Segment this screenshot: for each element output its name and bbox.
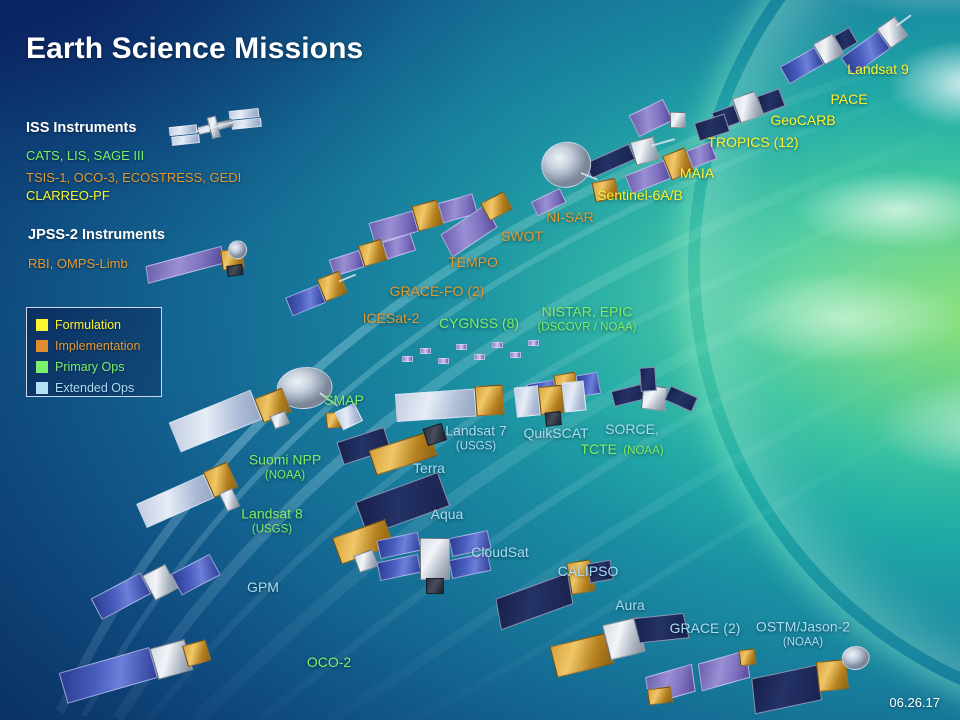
mission-label-ni-sar: NI-SAR <box>546 209 593 227</box>
mission-label-calipso: CALIPSO <box>558 563 619 581</box>
mission-name: ICESat-2 <box>363 310 420 326</box>
legend-label-extended-ops: Extended Ops <box>55 381 134 395</box>
mission-name: TCTE <box>580 441 617 457</box>
legend-panel: Formulation Implementation Primary Ops E… <box>26 307 162 397</box>
satellite-ostm-jason-2 <box>748 637 887 720</box>
iss-line-1: CATS, LIS, SAGE III <box>26 148 144 163</box>
mission-label-sentinel-6a-b: Sentinel-6A/B <box>597 187 683 205</box>
legend-label-primary-ops: Primary Ops <box>55 360 124 374</box>
mission-name: GRACE-FO (2) <box>390 283 485 299</box>
mission-name: Landsat 8 <box>241 506 303 522</box>
mission-label-suomi-npp: Suomi NPP(NOAA) <box>249 452 321 483</box>
mission-label-ostm-jason-2: OSTM/Jason-2(NOAA) <box>756 619 850 650</box>
mission-name: PACE <box>830 91 867 107</box>
mission-name: SWOT <box>501 228 543 244</box>
mission-label-tempo: TEMPO <box>448 254 498 272</box>
mission-label-geocarb: GeoCARB <box>770 112 835 130</box>
mission-name: Landsat 9 <box>847 61 909 77</box>
mission-name: GPM <box>247 579 279 595</box>
mission-label-grace-2: GRACE (2) <box>670 620 741 638</box>
mission-label-quikscat: QuikSCAT <box>523 425 588 443</box>
mission-name: CYGNSS (8) <box>439 315 519 331</box>
iss-line-2: TSIS-1, OCO-3, ECOSTRESS, GEDI <box>26 170 241 185</box>
mission-label-cygnss-8: CYGNSS (8) <box>439 315 519 333</box>
mission-label-tcte: TCTE (NOAA) <box>580 441 663 459</box>
mission-agency: (DSCOVR / NOAA) <box>537 322 636 335</box>
legend-item-extended-ops: Extended Ops <box>36 378 161 398</box>
mission-name: SORCE, <box>605 421 659 437</box>
iss-line-3: CLARREO-PF <box>26 188 110 203</box>
mission-name: SMAP <box>324 392 364 408</box>
mission-name: NISTAR, EPIC <box>542 304 633 320</box>
satellite-cloudsat <box>378 528 490 600</box>
mission-name: MAIA <box>680 165 714 181</box>
legend-swatch-extended-ops <box>36 382 48 394</box>
mission-label-nistar-epic: NISTAR, EPIC(DSCOVR / NOAA) <box>537 304 636 335</box>
group-heading-iss: ISS Instruments <box>26 120 136 136</box>
mission-name: CloudSat <box>471 544 529 560</box>
mission-label-landsat-8: Landsat 8(USGS) <box>241 506 303 537</box>
mission-label-gpm: GPM <box>247 579 279 597</box>
mission-name: NI-SAR <box>546 209 593 225</box>
mission-label-cloudsat: CloudSat <box>471 544 529 562</box>
mission-agency-inline: (NOAA) <box>617 445 664 457</box>
mission-name: Terra <box>413 460 445 476</box>
jpss2-line-1: RBI, OMPS-Limb <box>28 256 128 271</box>
mission-agency: (NOAA) <box>756 637 850 650</box>
mission-label-grace-fo-2: GRACE-FO (2) <box>390 283 485 301</box>
legend-label-formulation: Formulation <box>55 318 121 332</box>
mission-name: GRACE (2) <box>670 620 741 636</box>
mission-label-pace: PACE <box>830 91 867 109</box>
mission-label-sorce: SORCE, <box>605 421 659 439</box>
mission-label-oco-2: OCO-2 <box>307 654 351 672</box>
mission-name: Suomi NPP <box>249 452 321 468</box>
mission-name: OSTM/Jason-2 <box>756 619 850 635</box>
mission-label-maia: MAIA <box>680 165 714 183</box>
mission-name: Aqua <box>431 506 464 522</box>
mission-agency: (NOAA) <box>249 470 321 483</box>
legend-item-formulation: Formulation <box>36 315 161 335</box>
mission-label-swot: SWOT <box>501 228 543 246</box>
legend-swatch-primary-ops <box>36 361 48 373</box>
mission-label-landsat-7: Landsat 7(USGS) <box>445 423 507 454</box>
mission-name: QuikSCAT <box>523 425 588 441</box>
legend-swatch-formulation <box>36 319 48 331</box>
page-title: Earth Science Missions <box>26 32 363 66</box>
mission-name: OCO-2 <box>307 654 351 670</box>
mission-label-aqua: Aqua <box>431 506 464 524</box>
mission-name: TEMPO <box>448 254 498 270</box>
mission-name: TROPICS (12) <box>707 134 798 150</box>
mission-name: Aura <box>615 597 645 613</box>
mission-name: GeoCARB <box>770 112 835 128</box>
legend-item-primary-ops: Primary Ops <box>36 357 161 377</box>
earth-science-missions-infographic: Earth Science Missions ISS Instruments C… <box>0 0 960 720</box>
group-heading-jpss2: JPSS-2 Instruments <box>28 227 165 243</box>
mission-name: CALIPSO <box>558 563 619 579</box>
mission-label-terra: Terra <box>413 460 445 478</box>
mission-agency: (USGS) <box>241 524 303 537</box>
date-stamp: 06.26.17 <box>889 695 940 710</box>
mission-name: Landsat 7 <box>445 423 507 439</box>
mission-label-landsat-9: Landsat 9 <box>847 61 909 79</box>
legend-swatch-implementation <box>36 340 48 352</box>
mission-label-smap: SMAP <box>324 392 364 410</box>
mission-label-tropics-12: TROPICS (12) <box>707 134 798 152</box>
legend-item-implementation: Implementation <box>36 336 161 356</box>
mission-agency: (USGS) <box>445 441 507 454</box>
mission-label-aura: Aura <box>615 597 645 615</box>
mission-name: Sentinel-6A/B <box>597 187 683 203</box>
mission-label-icesat-2: ICESat-2 <box>363 310 420 328</box>
legend-label-implementation: Implementation <box>55 339 140 353</box>
